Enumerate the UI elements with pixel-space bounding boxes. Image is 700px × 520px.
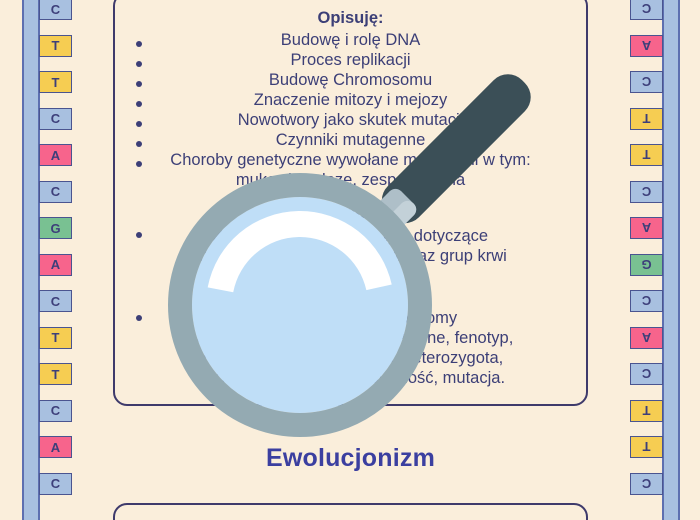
opisuje-item-2: Budowę Chromosomu: [113, 70, 588, 90]
opisuje-item-6: Choroby genetyczne wywołane mutacjami w …: [113, 150, 588, 170]
dna-base-right-13: C: [630, 473, 663, 495]
opisuje-item-7: mukowiscydozę, zespół Downa: [113, 170, 588, 190]
dna-base-left-6: G: [39, 217, 72, 239]
infographic-canvas: CTTCACGACTTCAC CACTTCAGCACTTC Opisuję: B…: [0, 0, 700, 520]
dna-base-right-2: C: [630, 71, 663, 93]
dna-base-left-12: A: [39, 436, 72, 458]
dna-base-right-4: T: [630, 144, 663, 166]
opisuje-item-4: Nowotwory jako skutek mutacji: [113, 110, 588, 130]
dna-base-right-10: C: [630, 363, 663, 385]
rozwiazuje-item-0: Zadania genetyczne w tym dotyczące: [113, 226, 588, 246]
dna-strand-right: CACTTCAGCACTTC: [620, 0, 700, 520]
dna-base-left-7: A: [39, 254, 72, 276]
opisuje-header: Opisuję:: [113, 8, 588, 28]
opisuje-item-3: Znaczenie mitozy i mejozy: [113, 90, 588, 110]
content-card-evolution: [113, 503, 588, 520]
rozwiazuje-item-1: dziedziczenia płci człowieka oraz grup k…: [113, 246, 588, 266]
dna-base-left-3: C: [39, 108, 72, 130]
wyjasniam-item-1: homologiczne, komórki haploidalne, fenot…: [113, 328, 588, 348]
dna-base-right-9: A: [630, 327, 663, 349]
wyjasniam-header: Wyjaśniam pojęcia:: [113, 286, 588, 306]
dna-base-right-12: T: [630, 436, 663, 458]
dna-base-left-4: A: [39, 144, 72, 166]
dna-base-left-0: C: [39, 0, 72, 20]
wyjasniam-item-0: Geny, genomy i chromosomy: [113, 308, 588, 328]
dna-base-right-11: T: [630, 400, 663, 422]
opisuje-item-5: Czynniki mutagenne: [113, 130, 588, 150]
dna-base-left-1: T: [39, 35, 72, 57]
dna-strand-left: CTTCACGACTTCAC: [0, 0, 80, 520]
dna-base-left-13: C: [39, 473, 72, 495]
dna-base-right-0: C: [630, 0, 663, 20]
dna-base-right-1: A: [630, 35, 663, 57]
dna-base-left-9: T: [39, 327, 72, 349]
dna-base-left-8: C: [39, 290, 72, 312]
dna-base-right-6: A: [630, 217, 663, 239]
dna-base-left-2: T: [39, 71, 72, 93]
wyjasniam-item-2: genotyp, allel, homozygota, heterozygota…: [113, 348, 588, 368]
opisuje-item-0: Budowę i rolę DNA: [113, 30, 588, 50]
dna-base-left-5: C: [39, 181, 72, 203]
dna-base-right-5: C: [630, 181, 663, 203]
opisuje-item-1: Proces replikacji: [113, 50, 588, 70]
wyjasniam-item-3: cecha dominująca, recesywność, mutacja.: [113, 368, 588, 388]
rozwiazuje-header: Rozwiązuję:: [113, 203, 588, 223]
dna-base-left-10: T: [39, 363, 72, 385]
dna-backbone-left: [22, 0, 40, 520]
dna-base-right-7: G: [630, 254, 663, 276]
dna-base-right-8: C: [630, 290, 663, 312]
section-title-ewolucjonizm: Ewolucjonizm: [113, 444, 588, 473]
dna-base-right-3: T: [630, 108, 663, 130]
dna-base-left-11: C: [39, 400, 72, 422]
dna-backbone-right: [662, 0, 680, 520]
